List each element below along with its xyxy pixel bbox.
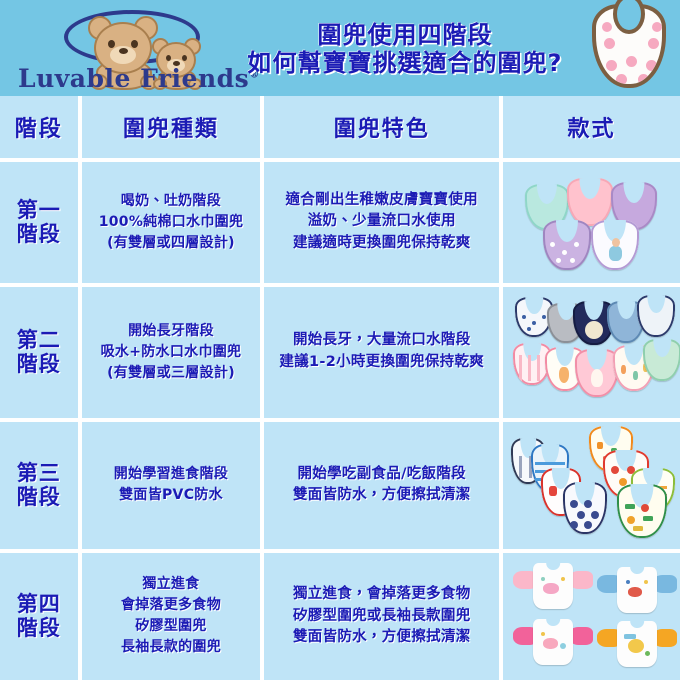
table-header-row: 階段 圍兜種類 圍兜特色 款式 [0,96,680,158]
type-1-line-3: (有雙層或四層設計) [99,233,244,254]
style-cell-3 [503,422,680,549]
type-cell-3: 開始學習進食階段 雙面皆PVC防水 [82,422,261,549]
stage-4-line-2: 階段 [17,616,61,640]
feature-3-line-1: 開始學吃副食品/吃飯階段 [293,464,471,486]
header-stage: 階段 [0,96,78,158]
feature-2-line-2: 建議1-2小時更換圍兜保持乾爽 [279,352,484,374]
headline-line-2: 如何幫寶寶挑選適合的圍兜? [240,50,570,78]
table-row: 第四 階段 獨立進食 會掉落更多食物 矽膠型圍兜 長袖長款的圍兜 獨立進食，會掉… [0,553,680,680]
feature-2-line-1: 開始長牙，大量流口水階段 [279,330,484,352]
type-4-line-1: 獨立進食 [121,574,221,595]
stage-3-line-1: 第三 [17,461,61,485]
feature-1-line-1: 適合剛出生稚嫩皮膚寶寶使用 [286,190,478,212]
feature-4-line-2: 矽膠型圍兜或長袖長款圍兜 [293,606,471,628]
header-banner: Luvable Friends® 圍兜使用四階段 如何幫寶寶挑選適合的圍兜? [0,0,680,96]
type-1-line-1: 喝奶、吐奶階段 [99,191,244,212]
header-style: 款式 [503,96,680,158]
stages-table: 階段 圍兜種類 圍兜特色 款式 第一 階段 喝奶、吐奶階段 100%純棉口水巾圍… [0,96,680,680]
table-row: 第一 階段 喝奶、吐奶階段 100%純棉口水巾圍兜 (有雙層或四層設計) 適合剛… [0,162,680,283]
feature-4-line-3: 雙面皆防水，方便擦拭清潔 [293,627,471,649]
table-row: 第二 階段 開始長牙階段 吸水+防水口水巾圍兜 (有雙層或三層設計) 開始長牙，… [0,287,680,418]
header-stage-label: 階段 [15,111,63,143]
header-feature: 圍兜特色 [264,96,499,158]
stage-1-line-1: 第一 [17,198,61,222]
brand-name-text: Luvable Friends [18,64,249,93]
type-4-line-3: 矽膠型圍兜 [121,616,221,637]
headline: 圍兜使用四階段 如何幫寶寶挑選適合的圍兜? [240,22,570,77]
polka-dot-bib-icon [592,4,666,88]
headline-line-1: 圍兜使用四階段 [240,22,570,50]
feature-cell-3: 開始學吃副食品/吃飯階段 雙面皆防水，方便擦拭清潔 [264,422,499,549]
absorbent-waterproof-bibs-photo [503,287,680,418]
stage-2-line-2: 階段 [17,352,61,376]
brand-logo: Luvable Friends® [18,8,248,90]
stage-cell-1: 第一 階段 [0,162,78,283]
feature-cell-4: 獨立進食，會掉落更多食物 矽膠型圍兜或長袖長款圍兜 雙面皆防水，方便擦拭清潔 [264,553,499,680]
header-feature-label: 圍兜特色 [334,111,430,143]
stage-cell-3: 第三 階段 [0,422,78,549]
stage-1-line-2: 階段 [17,222,61,246]
type-2-line-1: 開始長牙階段 [101,321,242,342]
type-cell-2: 開始長牙階段 吸水+防水口水巾圍兜 (有雙層或三層設計) [82,287,261,418]
type-2-line-3: (有雙層或三層設計) [101,363,242,384]
type-1-line-2: 100%純棉口水巾圍兜 [99,212,244,233]
type-2-line-2: 吸水+防水口水巾圍兜 [101,342,242,363]
header-type: 圍兜種類 [82,96,261,158]
feature-1-line-2: 溢奶、少量流口水使用 [286,211,478,233]
pvc-waterproof-bibs-photo [503,422,680,549]
type-cell-4: 獨立進食 會掉落更多食物 矽膠型圍兜 長袖長款的圍兜 [82,553,261,680]
feature-1-line-3: 建議適時更換圍兜保持乾爽 [286,233,478,255]
type-cell-1: 喝奶、吐奶階段 100%純棉口水巾圍兜 (有雙層或四層設計) [82,162,261,283]
stage-4-line-1: 第四 [17,592,61,616]
feature-cell-1: 適合剛出生稚嫩皮膚寶寶使用 溢奶、少量流口水使用 建議適時更換圍兜保持乾爽 [264,162,499,283]
stage-2-line-1: 第二 [17,328,61,352]
type-4-line-4: 長袖長款的圍兜 [121,637,221,658]
type-4-line-2: 會掉落更多食物 [121,595,221,616]
stage-3-line-2: 階段 [17,485,61,509]
poster: Luvable Friends® 圍兜使用四階段 如何幫寶寶挑選適合的圍兜? [0,0,680,680]
style-cell-2 [503,287,680,418]
stage-cell-2: 第二 階段 [0,287,78,418]
feature-cell-2: 開始長牙，大量流口水階段 建議1-2小時更換圍兜保持乾爽 [264,287,499,418]
style-cell-1 [503,162,680,283]
table-row: 第三 階段 開始學習進食階段 雙面皆PVC防水 開始學吃副食品/吃飯階段 雙面皆… [0,422,680,549]
pastel-cotton-bibs-photo [503,162,680,283]
brand-name: Luvable Friends® [18,64,250,93]
feature-3-line-2: 雙面皆防水，方便擦拭清潔 [293,485,471,507]
feature-4-line-1: 獨立進食，會掉落更多食物 [293,584,471,606]
type-3-line-1: 開始學習進食階段 [114,464,228,485]
type-3-line-2: 雙面皆PVC防水 [114,485,228,506]
long-sleeve-smock-bibs-photo [503,553,680,680]
header-type-label: 圍兜種類 [123,111,219,143]
stage-cell-4: 第四 階段 [0,553,78,680]
style-cell-4 [503,553,680,680]
header-style-label: 款式 [568,111,616,143]
